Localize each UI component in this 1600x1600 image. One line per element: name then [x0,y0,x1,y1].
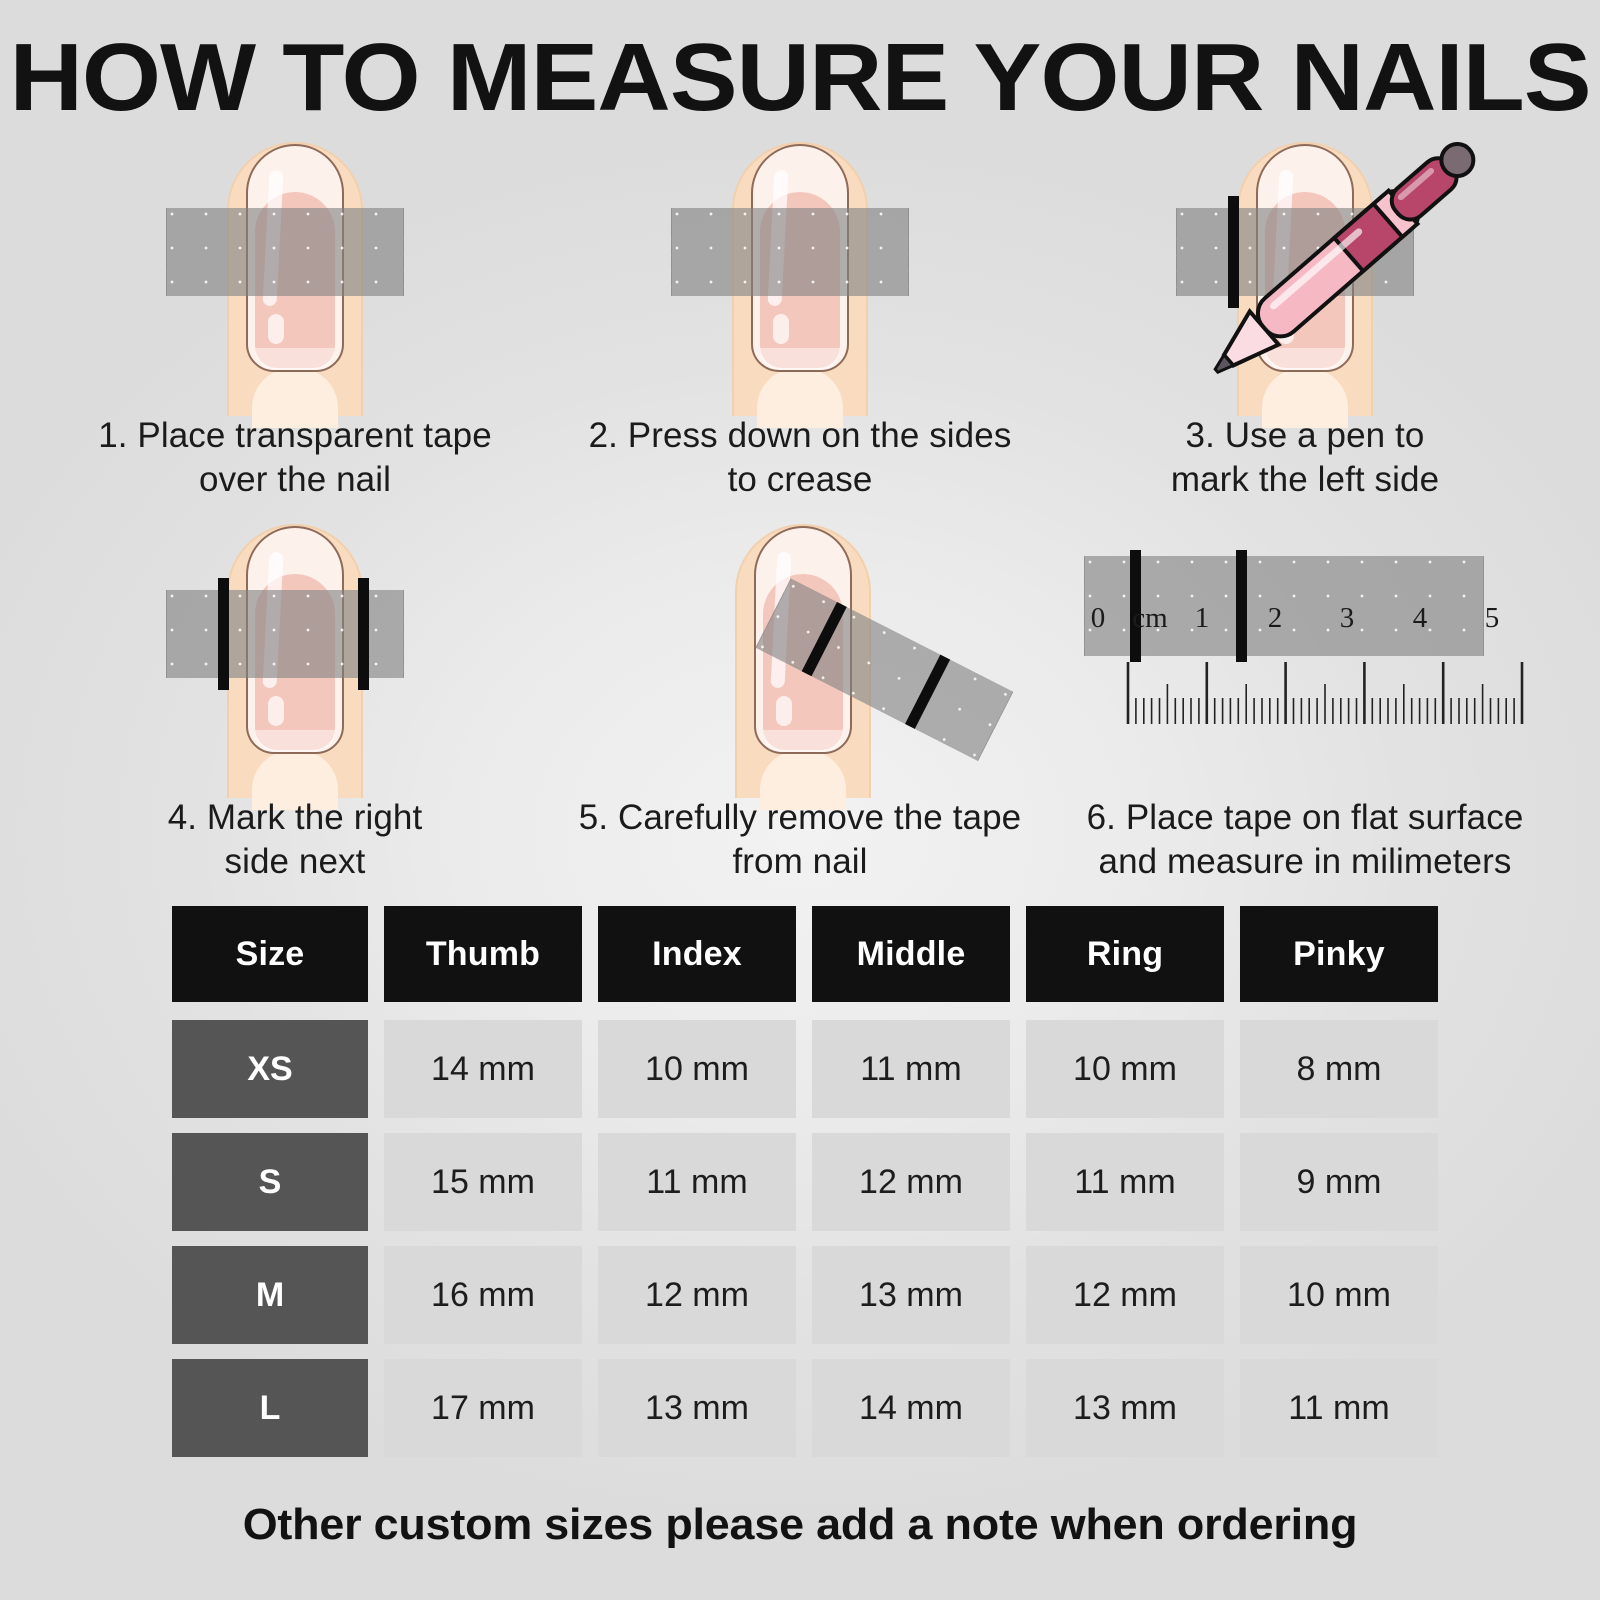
table-row: S 15 mm 11 mm 12 mm 11 mm 9 mm [172,1133,1438,1231]
cell-index: 12 mm [598,1246,796,1344]
step-4: 4. Mark the right side next [40,518,550,798]
cell-ring: 12 mm [1026,1246,1224,1344]
nail [246,144,344,372]
nail-shine-dot [268,314,284,344]
step-1-illustration [40,136,550,416]
nail-shine-dot [773,314,789,344]
nail [751,144,849,372]
nail [754,526,852,754]
step-2-illustration [545,136,1055,416]
step-4-line-2: side next [225,842,366,881]
column-header-middle: Middle [812,906,1010,1002]
step-3-line-1: 3. Use a pen to [1186,416,1425,455]
cell-size: XS [172,1020,368,1118]
ruler-unit-label: cm [1132,602,1167,635]
step-1-line-1: 1. Place transparent tape [98,416,492,455]
cell-pinky: 9 mm [1240,1133,1438,1231]
table-row: XS 14 mm 10 mm 11 mm 10 mm 8 mm [172,1020,1438,1118]
step-5-caption: 5. Carefully remove the tape from nail [545,796,1055,884]
cell-middle: 14 mm [812,1359,1010,1457]
cell-index: 11 mm [598,1133,796,1231]
nail [246,526,344,754]
step-1-caption: 1. Place transparent tape over the nail [40,414,550,502]
cell-middle: 13 mm [812,1246,1010,1344]
pen-mark-right [902,649,953,734]
cell-thumb: 17 mm [384,1359,582,1457]
step-1-line-2: over the nail [199,460,391,499]
step-6-line-1: 6. Place tape on flat surface [1087,798,1524,837]
cell-ring: 10 mm [1026,1020,1224,1118]
column-header-size: Size [172,906,368,1002]
ruler-labels: 0 cm 1 2 3 4 5 [1050,602,1510,638]
cell-middle: 12 mm [812,1133,1010,1231]
column-header-index: Index [598,906,796,1002]
infographic-page: HOW TO MEASURE YOUR NAILS 1. Place trans… [0,0,1600,1600]
pen-icon [1050,136,1560,416]
step-6-illustration: 0 cm 1 2 3 4 5 [1050,518,1560,798]
column-header-thumb: Thumb [384,906,582,1002]
cell-index: 10 mm [598,1020,796,1118]
step-4-illustration [40,518,550,798]
cell-index: 13 mm [598,1359,796,1457]
column-header-ring: Ring [1026,906,1224,1002]
footer-note: Other custom sizes please add a note whe… [0,1498,1600,1552]
step-3-line-2: mark the left side [1171,460,1439,499]
step-2-line-1: 2. Press down on the sides [589,416,1012,455]
cell-ring: 11 mm [1026,1133,1224,1231]
step-2-caption: 2. Press down on the sides to crease [545,414,1055,502]
nail-shine-dot [776,696,792,726]
step-1: 1. Place transparent tape over the nail [40,136,550,416]
step-5: 5. Carefully remove the tape from nail [545,518,1055,798]
cell-size: L [172,1359,368,1457]
nail-shine-dot [268,696,284,726]
step-6: 0 cm 1 2 3 4 5 6. Place tape on flat sur… [1050,518,1560,798]
cell-thumb: 14 mm [384,1020,582,1118]
ruler-tick-1: 1 [1195,602,1210,635]
ruler-tick-2: 2 [1268,602,1283,635]
finger-illustration [205,518,385,798]
nail-tip [760,348,840,370]
cell-pinky: 11 mm [1240,1359,1438,1457]
step-5-line-2: from nail [732,842,867,881]
page-title: HOW TO MEASURE YOUR NAILS [0,26,1600,130]
finger-illustration [205,136,385,416]
step-4-caption: 4. Mark the right side next [40,796,550,884]
cell-middle: 11 mm [812,1020,1010,1118]
step-2-line-2: to crease [728,460,873,499]
nail-tip [255,348,335,370]
size-chart-table: Size Thumb Index Middle Ring Pinky XS 14… [172,906,1438,1472]
finger-illustration [710,136,890,416]
step-4-line-1: 4. Mark the right [168,798,423,837]
cell-pinky: 10 mm [1240,1246,1438,1344]
ruler-tick-3: 3 [1340,602,1355,635]
ruler-tick-4: 4 [1413,602,1428,635]
cell-thumb: 15 mm [384,1133,582,1231]
step-3-caption: 3. Use a pen to mark the left side [1050,414,1560,502]
nail-tip [763,730,843,752]
cell-size: M [172,1246,368,1344]
ruler-tick-0: 0 [1091,602,1106,635]
cell-size: S [172,1133,368,1231]
table-row: L 17 mm 13 mm 14 mm 13 mm 11 mm [172,1359,1438,1457]
step-2: 2. Press down on the sides to crease [545,136,1055,416]
cell-thumb: 16 mm [384,1246,582,1344]
table-row: M 16 mm 12 mm 13 mm 12 mm 10 mm [172,1246,1438,1344]
cell-ring: 13 mm [1026,1359,1224,1457]
ruler [1080,646,1540,766]
step-3: 3. Use a pen to mark the left side [1050,136,1560,416]
table-header-row: Size Thumb Index Middle Ring Pinky [172,906,1438,1002]
step-6-caption: 6. Place tape on flat surface and measur… [1050,796,1560,884]
step-5-illustration [545,518,1055,798]
cell-pinky: 8 mm [1240,1020,1438,1118]
finger-illustration [713,518,893,798]
column-header-pinky: Pinky [1240,906,1438,1002]
step-5-line-1: 5. Carefully remove the tape [579,798,1021,837]
step-3-illustration [1050,136,1560,416]
ruler-tick-5: 5 [1485,602,1500,635]
nail-tip [255,730,335,752]
step-6-line-2: and measure in milimeters [1099,842,1512,881]
